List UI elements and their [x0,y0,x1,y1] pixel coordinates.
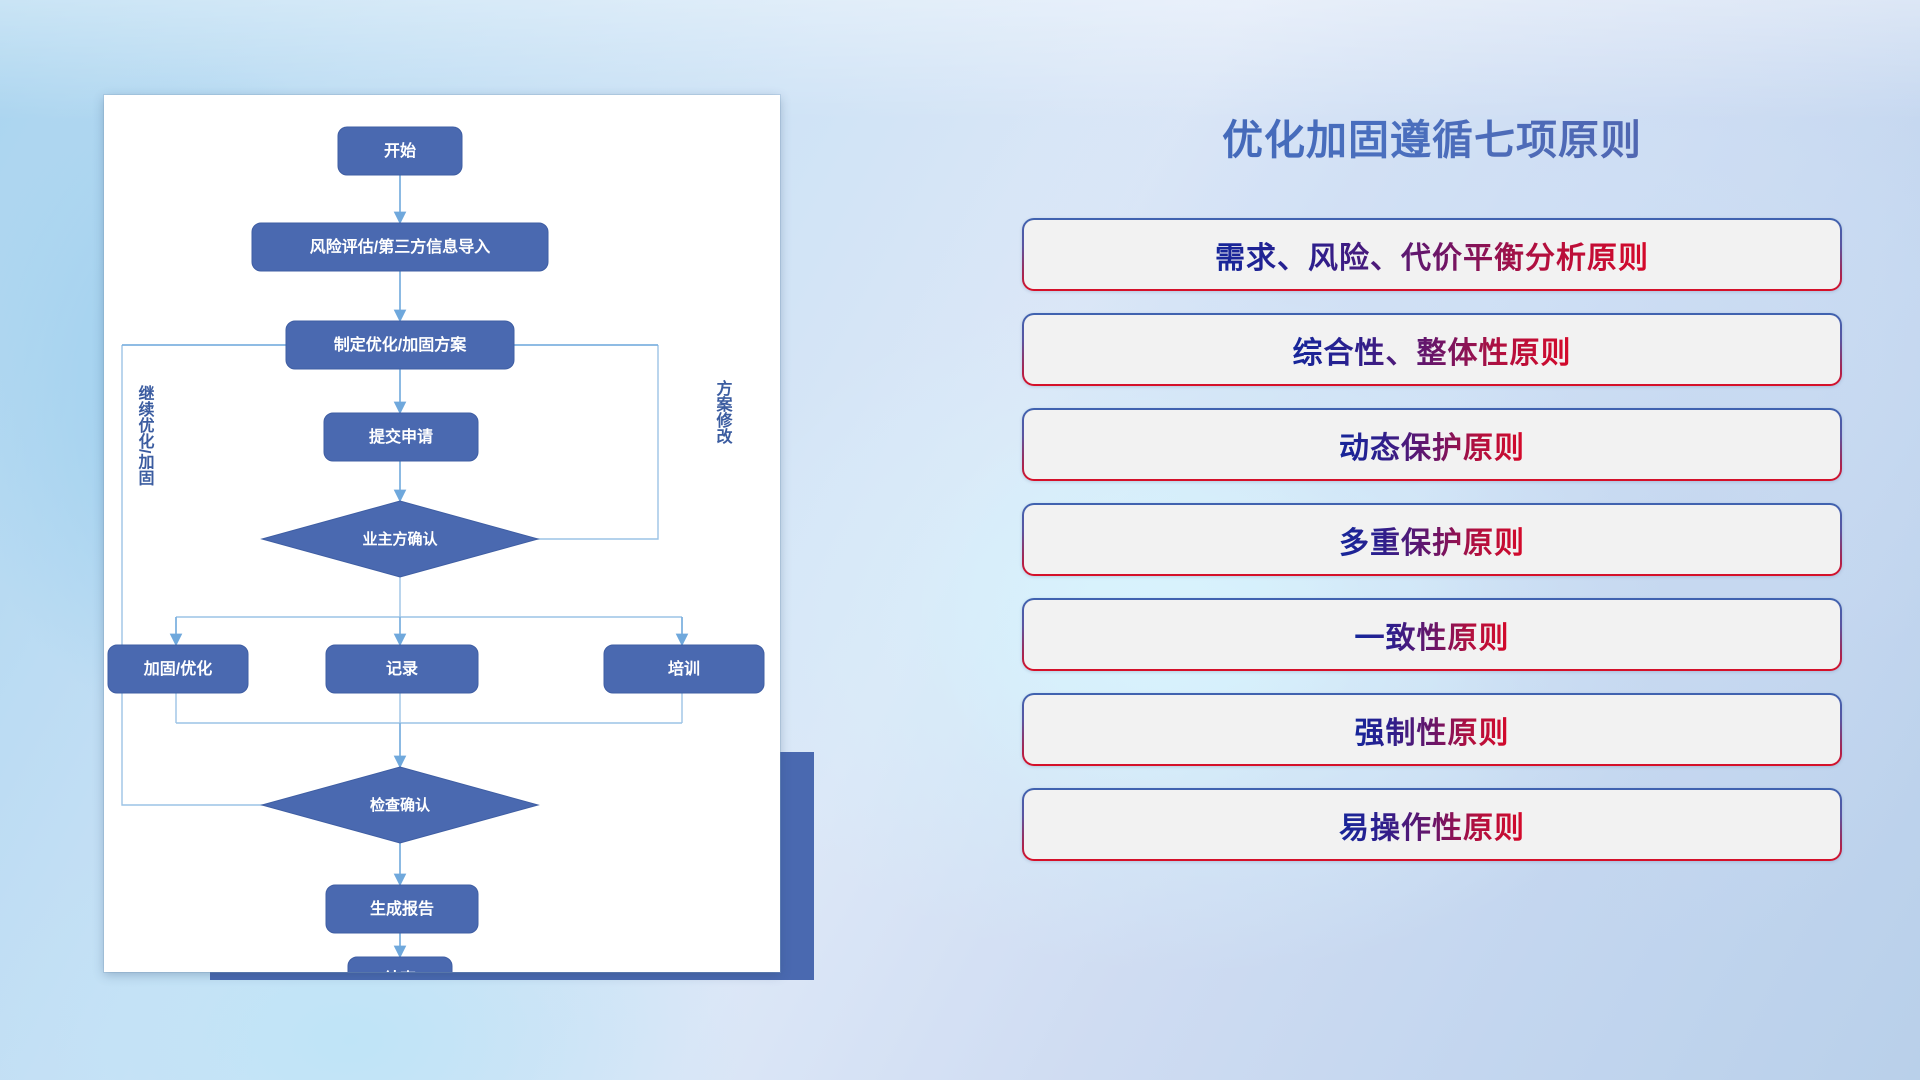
flowchart-diagram: .conn { stroke:#9cc3e5; stroke-width:1.4… [104,95,780,972]
svg-text:培训: 培训 [668,659,700,678]
principle-card-inner: 多重保护原则 [1024,505,1840,574]
flow-node-risk-assessment: 风险评估/第三方信息导入 [252,223,548,271]
principle-card-4[interactable]: 多重保护原则 [1022,503,1842,576]
principle-card-7[interactable]: 易操作性原则 [1022,788,1842,861]
principle-card-inner: 强制性原则 [1024,695,1840,764]
svg-text:生成报告: 生成报告 [370,899,434,918]
principle-card-inner: 综合性、整体性原则 [1024,315,1840,384]
principle-label: 动态保护原则 [1339,423,1525,467]
principle-card-inner: 易操作性原则 [1024,790,1840,859]
principle-card-inner: 一致性原则 [1024,600,1840,669]
flow-node-end: 结束 [348,957,452,972]
svg-text:制定优化/加固方案: 制定优化/加固方案 [334,335,467,354]
principle-card-inner: 需求、风险、代价平衡分析原则 [1024,220,1840,289]
principle-card-3[interactable]: 动态保护原则 [1022,408,1842,481]
principle-label: 一致性原则 [1355,613,1510,657]
principle-card-inner: 动态保护原则 [1024,410,1840,479]
principle-card-6[interactable]: 强制性原则 [1022,693,1842,766]
principle-label: 综合性、整体性原则 [1293,328,1572,372]
flow-node-generate-report: 生成报告 [326,885,478,933]
flow-edge-label-plan-revision: 方案修改 [714,379,734,445]
flow-node-owner-confirm: 业主方确认 [262,501,538,577]
flow-node-training: 培训 [604,645,764,693]
flow-node-submit-application: 提交申请 [324,413,478,461]
svg-text:检查确认: 检查确认 [370,796,431,814]
svg-text:风险评估/第三方信息导入: 风险评估/第三方信息导入 [310,237,490,256]
flow-node-plan: 制定优化/加固方案 [286,321,514,369]
svg-text:业主方确认: 业主方确认 [362,530,438,548]
svg-text:开始: 开始 [384,141,416,160]
principle-label: 需求、风险、代价平衡分析原则 [1215,233,1649,277]
flow-node-record: 记录 [326,645,478,693]
principle-card-1[interactable]: 需求、风险、代价平衡分析原则 [1022,218,1842,291]
principles-list: 需求、风险、代价平衡分析原则 综合性、整体性原则 动态保护原则 多重保护原则 一… [1022,218,1842,861]
svg-text:加固/优化: 加固/优化 [143,659,212,678]
principle-card-2[interactable]: 综合性、整体性原则 [1022,313,1842,386]
principles-title: 优化加固遵循七项原则 [1022,106,1842,166]
principle-label: 强制性原则 [1355,708,1510,752]
principle-label: 多重保护原则 [1339,518,1525,562]
flow-edge-label-continue-optimize: 继续优化/加固 [136,384,156,486]
principle-label: 易操作性原则 [1339,803,1525,847]
principle-card-5[interactable]: 一致性原则 [1022,598,1842,671]
principles-panel: 优化加固遵循七项原则 需求、风险、代价平衡分析原则 综合性、整体性原则 动态保护… [1022,96,1842,1006]
flow-node-check-confirm: 检查确认 [262,767,538,843]
svg-text:记录: 记录 [386,660,418,678]
svg-text:提交申请: 提交申请 [369,427,433,446]
flow-node-start: 开始 [338,127,462,175]
flow-node-reinforce: 加固/优化 [108,645,248,693]
